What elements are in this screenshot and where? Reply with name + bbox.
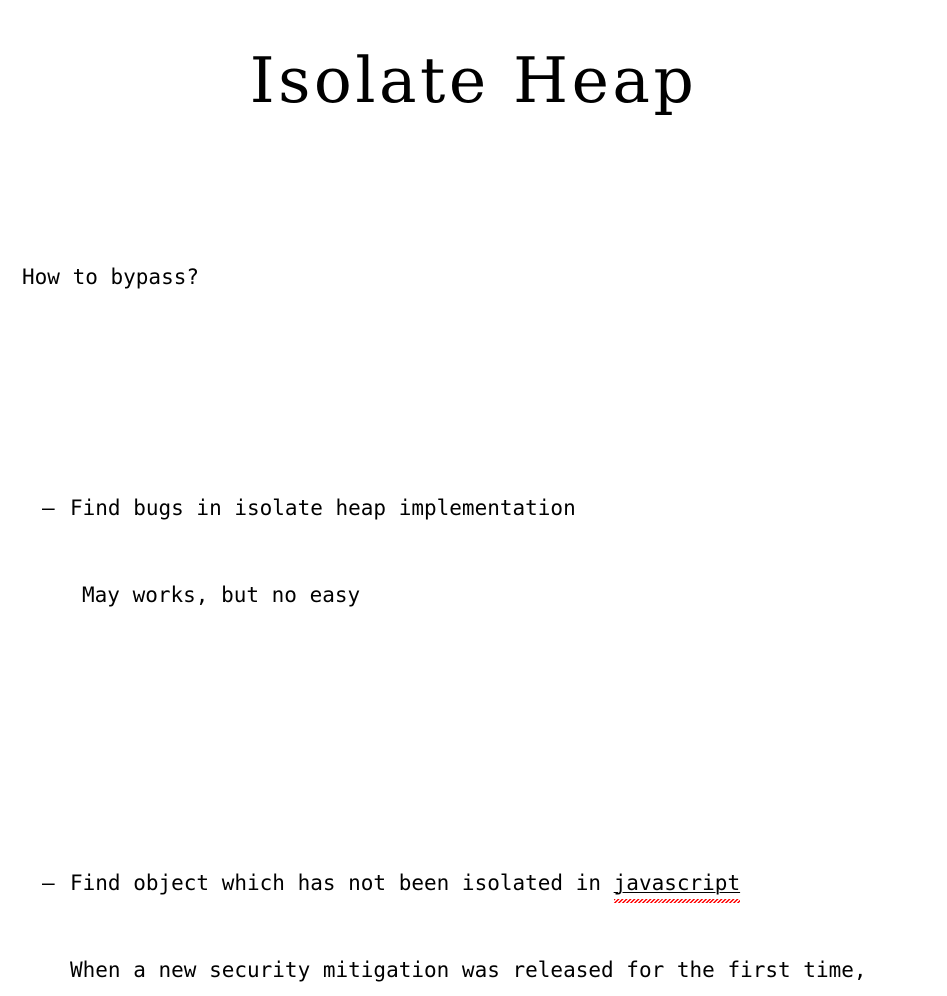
lead-question: How to bypass? (22, 263, 927, 292)
bullet-item-1: –Find bugs in isolate heap implementatio… (22, 436, 927, 668)
slide-body: How to bypass? –Find bugs in isolate hea… (22, 176, 927, 996)
misspelled-word-javascript: javascript (614, 869, 740, 898)
bullet-dash-icon: – (42, 869, 70, 898)
bullet-1-line: –Find bugs in isolate heap implementatio… (42, 494, 927, 523)
bullet-2-continuation-1: When a new security mitigation was relea… (70, 956, 927, 985)
bullet-1-continuation-1: May works, but no easy (82, 581, 927, 610)
bullet-2-line: –Find object which has not been isolated… (42, 869, 927, 898)
presentation-slide: Isolate Heap How to bypass? –Find bugs i… (0, 0, 947, 498)
bullet-1-text: Find bugs in isolate heap implementation (70, 496, 576, 520)
bullet-item-2: –Find object which has not been isolated… (22, 811, 927, 996)
bullet-2-text-before: Find object which has not been isolated … (70, 871, 614, 895)
bullet-dash-icon: – (42, 494, 70, 523)
slide-title: Isolate Heap (0, 48, 947, 114)
